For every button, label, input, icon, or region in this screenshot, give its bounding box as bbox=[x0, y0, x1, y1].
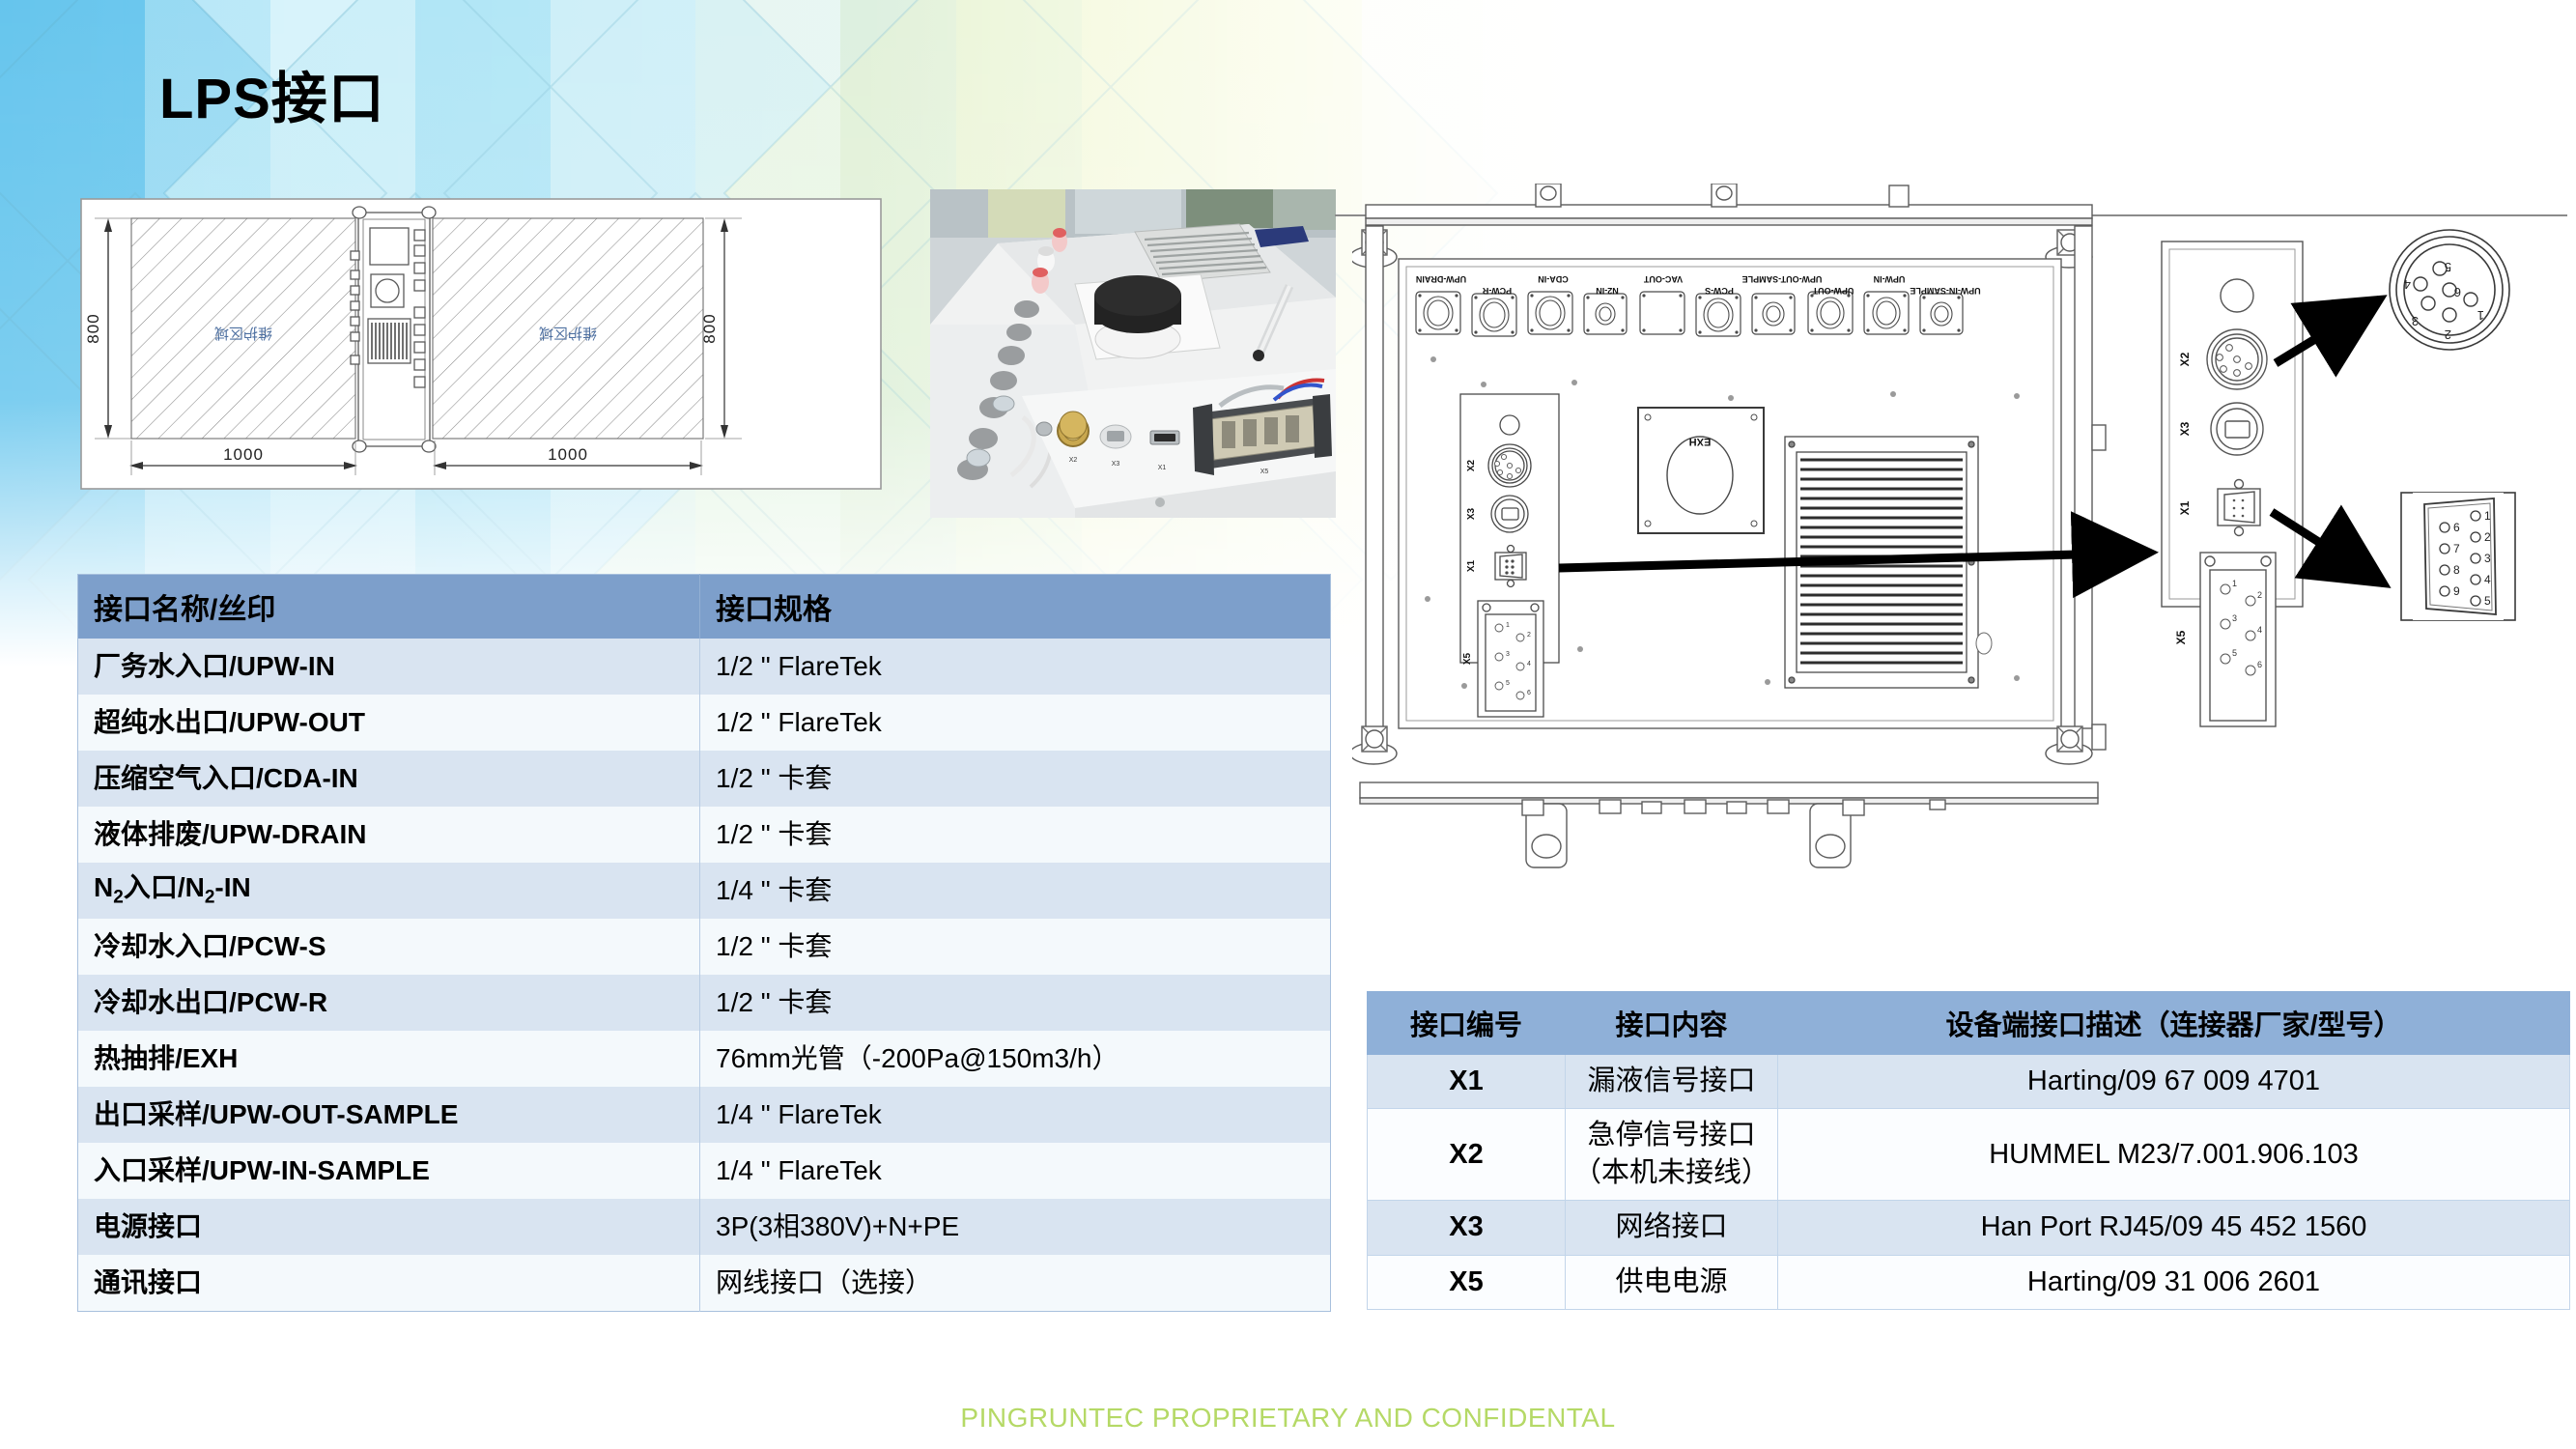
cell-interface-spec: 1/2 " FlareTek bbox=[700, 695, 1331, 751]
dsub-pin-6: 6 bbox=[2453, 521, 2460, 534]
cell-interface-spec: 1/4 " FlareTek bbox=[700, 1143, 1331, 1199]
exhaust-label: EXH bbox=[1689, 436, 1712, 447]
svg-text:2: 2 bbox=[1527, 632, 1531, 639]
cell-interface-spec: 1/4 " FlareTek bbox=[700, 1087, 1331, 1143]
dsub-pin-3: 3 bbox=[2484, 552, 2491, 565]
panel-technical-diagram: UPW-DRAIN PCW-R CDA-IN N2-IN VAC-OUT PCW… bbox=[1352, 184, 2569, 976]
th-connector-desc: 设备端接口描述（连接器厂家/型号） bbox=[1778, 992, 2570, 1055]
dsub-pin-9: 9 bbox=[2453, 584, 2460, 598]
svg-text:6: 6 bbox=[1527, 690, 1531, 696]
cad-layout-drawing: 维护区域 维护区域 bbox=[75, 193, 887, 512]
port-label-pcw-r: PCW-R bbox=[1482, 286, 1512, 296]
svg-text:4: 4 bbox=[1527, 661, 1531, 668]
th-connector-use: 接口内容 bbox=[1566, 992, 1778, 1055]
photo-label-x1: X1 bbox=[1158, 465, 1167, 471]
detail-pin-1: 1 bbox=[2477, 308, 2484, 323]
svg-text:5: 5 bbox=[2232, 648, 2237, 658]
cell-interface-spec: 76mm光管（-200Pa@150m3/h） bbox=[700, 1031, 1331, 1087]
cell-interface-name: N2入口/N2-IN bbox=[78, 863, 700, 919]
table-row: 压缩空气入口/CDA-IN1/2 " 卡套 bbox=[78, 751, 1331, 807]
table-row: 入口采样/UPW-IN-SAMPLE1/4 " FlareTek bbox=[78, 1143, 1331, 1199]
cell-interface-name: 电源接口 bbox=[78, 1199, 700, 1255]
svg-text:1: 1 bbox=[1506, 622, 1510, 629]
detail-label-x2: X2 bbox=[2178, 352, 2192, 366]
confidential-footer: PINGRUNTEC PROPRIETARY AND CONFIDENTAL bbox=[0, 1403, 2576, 1434]
table-row: 超纯水出口/UPW-OUT1/2 " FlareTek bbox=[78, 695, 1331, 751]
svg-text:2: 2 bbox=[2257, 590, 2262, 600]
table-header-row: 接口名称/丝印 接口规格 bbox=[78, 575, 1331, 639]
th-connector-id: 接口编号 bbox=[1368, 992, 1566, 1055]
detail-label-x1: X1 bbox=[2178, 500, 2192, 515]
cell-connector-id: X5 bbox=[1368, 1255, 1566, 1309]
cell-interface-name: 冷却水出口/PCW-R bbox=[78, 975, 700, 1031]
port-label-upw-drain: UPW-DRAIN bbox=[1416, 274, 1466, 284]
cell-connector-desc: Harting/09 31 006 2601 bbox=[1778, 1255, 2570, 1309]
cell-connector-use: 急停信号接口 （本机未接线） bbox=[1566, 1109, 1778, 1201]
strip-label-x3: X3 bbox=[1466, 507, 1477, 520]
svg-text:3: 3 bbox=[1506, 651, 1510, 658]
table-row: X1漏液信号接口Harting/09 67 009 4701 bbox=[1368, 1055, 2570, 1109]
dsub-pin-7: 7 bbox=[2453, 542, 2460, 555]
cad-zone-label-right: 维护区域 bbox=[539, 325, 597, 341]
table-header-row: 接口编号 接口内容 设备端接口描述（连接器厂家/型号） bbox=[1368, 992, 2570, 1055]
cell-interface-name: 液体排废/UPW-DRAIN bbox=[78, 807, 700, 863]
cell-interface-spec: 网线接口（选接） bbox=[700, 1255, 1331, 1312]
cad-zone-label-left: 维护区域 bbox=[214, 325, 272, 341]
equipment-photo: X2 X3 X1 X5 bbox=[930, 189, 1336, 518]
port-label-cda-in: CDA-IN bbox=[1538, 274, 1569, 284]
cell-interface-spec: 3P(3相380V)+N+PE bbox=[700, 1199, 1331, 1255]
cell-connector-id: X3 bbox=[1368, 1201, 1566, 1255]
cell-interface-name: 超纯水出口/UPW-OUT bbox=[78, 695, 700, 751]
cell-connector-id: X2 bbox=[1368, 1109, 1566, 1201]
cell-connector-use: 漏液信号接口 bbox=[1566, 1055, 1778, 1109]
port-label-upw-out-sample: UPW-OUT-SAMPLE bbox=[1742, 274, 1823, 284]
cell-interface-name: 压缩空气入口/CDA-IN bbox=[78, 751, 700, 807]
detail-label-x3: X3 bbox=[2178, 421, 2192, 436]
cell-interface-name: 入口采样/UPW-IN-SAMPLE bbox=[78, 1143, 700, 1199]
table-row: 厂务水入口/UPW-IN1/2 " FlareTek bbox=[78, 639, 1331, 695]
svg-text:4: 4 bbox=[2257, 625, 2262, 635]
table-row: N2入口/N2-IN1/4 " 卡套 bbox=[78, 863, 1331, 919]
detail-label-x5: X5 bbox=[2174, 630, 2188, 644]
cell-connector-desc: Han Port RJ45/09 45 452 1560 bbox=[1778, 1201, 2570, 1255]
cell-interface-name: 厂务水入口/UPW-IN bbox=[78, 639, 700, 695]
port-label-vac-out: VAC-OUT bbox=[1643, 274, 1683, 284]
cell-interface-name: 出口采样/UPW-OUT-SAMPLE bbox=[78, 1087, 700, 1143]
table-row: 电源接口3P(3相380V)+N+PE bbox=[78, 1199, 1331, 1255]
detail-pin-6: 6 bbox=[2454, 285, 2461, 299]
cell-connector-desc: Harting/09 67 009 4701 bbox=[1778, 1055, 2570, 1109]
table-row: X3网络接口Han Port RJ45/09 45 452 1560 bbox=[1368, 1201, 2570, 1255]
dsub-pin-4: 4 bbox=[2484, 573, 2491, 586]
cell-connector-use: 网络接口 bbox=[1566, 1201, 1778, 1255]
table-row: 热抽排/EXH76mm光管（-200Pa@150m3/h） bbox=[78, 1031, 1331, 1087]
cell-connector-desc: HUMMEL M23/7.001.906.103 bbox=[1778, 1109, 2570, 1201]
connector-detail-table: 接口编号 接口内容 设备端接口描述（连接器厂家/型号） X1漏液信号接口Hart… bbox=[1367, 991, 2570, 1310]
detail-pin-4: 4 bbox=[2404, 277, 2411, 292]
svg-text:5: 5 bbox=[1506, 680, 1510, 687]
cad-dimension-height-right: 800 bbox=[700, 313, 719, 343]
port-label-upw-in: UPW-IN bbox=[1874, 274, 1906, 284]
port-label-upw-in-sample: UPW-IN-SAMPLE bbox=[1910, 286, 1980, 296]
strip-label-x1: X1 bbox=[1466, 559, 1477, 572]
cell-interface-name: 热抽排/EXH bbox=[78, 1031, 700, 1087]
interface-spec-table: 接口名称/丝印 接口规格 厂务水入口/UPW-IN1/2 " FlareTek超… bbox=[77, 574, 1331, 1312]
cell-connector-id: X1 bbox=[1368, 1055, 1566, 1109]
cell-interface-spec: 1/2 " 卡套 bbox=[700, 751, 1331, 807]
detail-pin-5: 5 bbox=[2445, 260, 2451, 274]
table-row: X5供电电源Harting/09 31 006 2601 bbox=[1368, 1255, 2570, 1309]
photo-label-x3: X3 bbox=[1112, 461, 1120, 468]
photo-label-x5: X5 bbox=[1260, 469, 1269, 475]
table-row: 出口采样/UPW-OUT-SAMPLE1/4 " FlareTek bbox=[78, 1087, 1331, 1143]
port-label-pcw-s: PCW-S bbox=[1705, 286, 1734, 296]
dsub-pin-1: 1 bbox=[2484, 509, 2491, 523]
cell-interface-spec: 1/4 " 卡套 bbox=[700, 863, 1331, 919]
cad-dimension-width-left: 1000 bbox=[223, 445, 264, 464]
port-label-n2-in: N2-IN bbox=[1596, 286, 1619, 296]
svg-text:1: 1 bbox=[2232, 579, 2237, 588]
detail-pin-3: 3 bbox=[2412, 314, 2419, 328]
cell-interface-name: 通讯接口 bbox=[78, 1255, 700, 1312]
table-row: 通讯接口网线接口（选接） bbox=[78, 1255, 1331, 1312]
table-row: 冷却水入口/PCW-S1/2 " 卡套 bbox=[78, 919, 1331, 975]
table-row: 液体排废/UPW-DRAIN1/2 " 卡套 bbox=[78, 807, 1331, 863]
cell-interface-spec: 1/2 " 卡套 bbox=[700, 919, 1331, 975]
dsub-pin-5: 5 bbox=[2484, 594, 2491, 608]
cell-interface-spec: 1/2 " 卡套 bbox=[700, 975, 1331, 1031]
cell-interface-spec: 1/2 " 卡套 bbox=[700, 807, 1331, 863]
port-label-upw-out: UPW-OUT bbox=[1812, 286, 1854, 296]
svg-text:3: 3 bbox=[2232, 613, 2237, 623]
svg-text:6: 6 bbox=[2257, 660, 2262, 669]
th-interface-spec: 接口规格 bbox=[700, 575, 1331, 639]
cad-dimension-height: 800 bbox=[84, 313, 102, 343]
dsub-pin-8: 8 bbox=[2453, 563, 2460, 577]
th-interface-name: 接口名称/丝印 bbox=[78, 575, 700, 639]
cad-dimension-width-right: 1000 bbox=[548, 445, 588, 464]
table-row: X2急停信号接口 （本机未接线）HUMMEL M23/7.001.906.103 bbox=[1368, 1109, 2570, 1201]
dsub-pin-2: 2 bbox=[2484, 530, 2491, 544]
strip-label-x5: X5 bbox=[1462, 652, 1473, 665]
cell-interface-name: 冷却水入口/PCW-S bbox=[78, 919, 700, 975]
photo-label-x2: X2 bbox=[1069, 457, 1078, 464]
strip-label-x2: X2 bbox=[1466, 459, 1477, 471]
cell-connector-use: 供电电源 bbox=[1566, 1255, 1778, 1309]
table-row: 冷却水出口/PCW-R1/2 " 卡套 bbox=[78, 975, 1331, 1031]
cell-interface-spec: 1/2 " FlareTek bbox=[700, 639, 1331, 695]
page-title: LPS接口 bbox=[159, 53, 385, 134]
detail-pin-2: 2 bbox=[2445, 327, 2451, 342]
